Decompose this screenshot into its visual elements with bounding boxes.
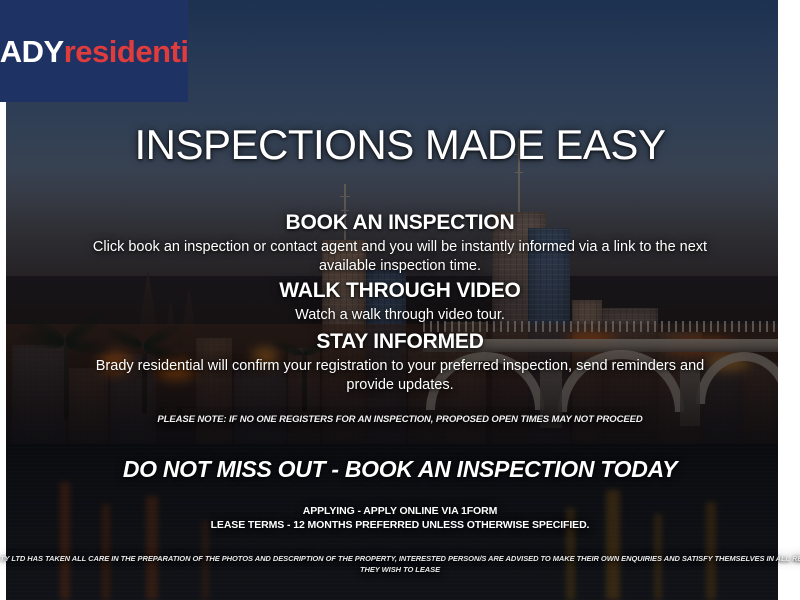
section-body: Watch a walk through video tour. (0, 306, 800, 325)
section-stay-informed: STAY INFORMED Brady residential will con… (0, 330, 800, 394)
terms-block: APPLYING - APPLY ONLINE VIA 1FORM LEASE … (0, 504, 800, 532)
section-title: WALK THROUGH VIDEO (0, 279, 800, 303)
section-title: BOOK AN INSPECTION (0, 211, 800, 235)
applying-line: APPLYING - APPLY ONLINE VIA 1FORM (0, 504, 800, 518)
section-book-an-inspection: BOOK AN INSPECTION Click book an inspect… (0, 211, 800, 275)
page-title: INSPECTIONS MADE EASY (0, 121, 800, 169)
poster-page: BRADYresidential INSPECTIONS MADE EASY B… (0, 0, 800, 600)
poster-content: INSPECTIONS MADE EASY BOOK AN INSPECTION… (0, 0, 800, 600)
please-note-disclaimer: PLEASE NOTE: IF NO ONE REGISTERS FOR AN … (0, 414, 800, 425)
section-title: STAY INFORMED (0, 330, 800, 354)
disclaimer-line-2: THEY WISH TO LEASE (0, 564, 800, 575)
call-to-action-text: DO NOT MISS OUT - BOOK AN INSPECTION TOD… (0, 456, 800, 483)
legal-disclaimer: TY LTD HAS TAKEN ALL CARE IN THE PREPARA… (0, 553, 800, 576)
disclaimer-line-1: TY LTD HAS TAKEN ALL CARE IN THE PREPARA… (0, 553, 800, 564)
section-body: Click book an inspection or contact agen… (0, 238, 800, 275)
lease-terms-line: LEASE TERMS - 12 MONTHS PREFERRED UNLESS… (0, 518, 800, 532)
section-body: Brady residential will confirm your regi… (0, 357, 800, 394)
section-walk-through-video: WALK THROUGH VIDEO Watch a walk through … (0, 279, 800, 325)
